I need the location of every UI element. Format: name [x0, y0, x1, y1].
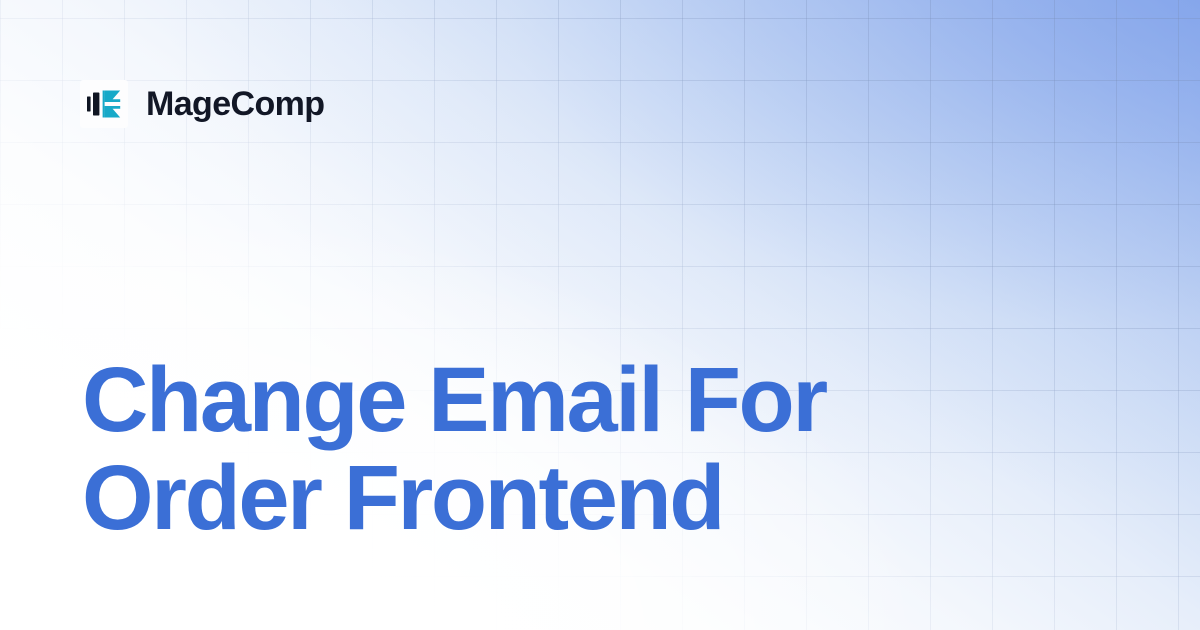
- brand-name: MageComp: [146, 87, 324, 121]
- og-card: MageComp Change Email For Order Frontend: [0, 0, 1200, 630]
- magecomp-logo-icon: [80, 80, 128, 128]
- page-title-line-1: Change Email For: [82, 352, 1082, 450]
- brand-lockup: MageComp: [80, 80, 324, 128]
- page-title: Change Email For Order Frontend: [82, 352, 1082, 547]
- page-title-line-2: Order Frontend: [82, 450, 1082, 548]
